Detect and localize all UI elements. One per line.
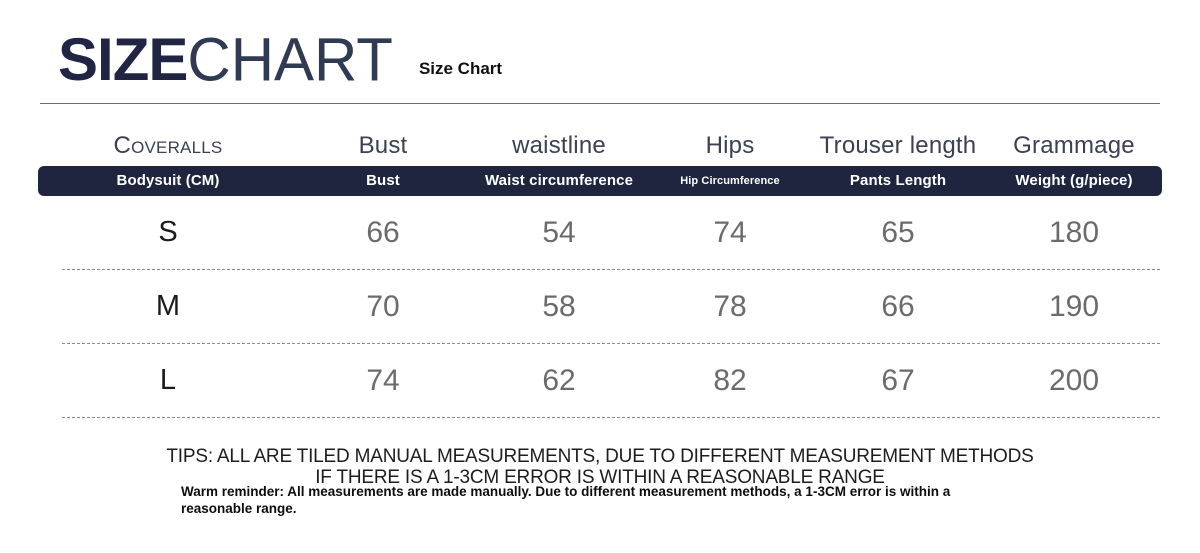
cell-size-m: M [38, 270, 298, 343]
cell-bust-l: 74 [298, 344, 468, 417]
title-light-word: CHART [187, 29, 393, 90]
page-title: SIZECHART Size Chart [58, 30, 502, 90]
cell-pants-length-m: 66 [810, 270, 986, 343]
table-row: L 74 62 82 67 200 [38, 344, 1162, 417]
cell-pants-length-s: 65 [810, 196, 986, 269]
table-row: S 66 54 74 65 180 [38, 196, 1162, 269]
title-bold-word: SIZE [58, 30, 187, 90]
size-table: Coveralls Bust waistline Hips Trouser le… [38, 128, 1162, 418]
header-navy-bust: Bust [298, 166, 468, 196]
header-light-waistline: waistline [468, 128, 650, 164]
footer-warm-reminder: Warm reminder: All measurements are made… [181, 483, 1021, 517]
title-divider [40, 103, 1160, 104]
cell-weight-m: 190 [986, 270, 1162, 343]
header-navy-weight: Weight (g/piece) [986, 166, 1162, 196]
cell-hip-s: 74 [650, 196, 810, 269]
cell-pants-length-l: 67 [810, 344, 986, 417]
cell-waist-m: 58 [468, 270, 650, 343]
cell-hip-l: 82 [650, 344, 810, 417]
table-row: M 70 58 78 66 190 [38, 270, 1162, 343]
size-chart-page: SIZECHART Size Chart Coveralls Bust wais… [0, 0, 1200, 553]
row-divider [62, 417, 1160, 418]
cell-weight-l: 200 [986, 344, 1162, 417]
header-navy-hip-circumference: Hip Circumference [650, 166, 810, 196]
header-navy-bodysuit: Bodysuit (CM) [38, 166, 298, 196]
cell-waist-l: 62 [468, 344, 650, 417]
footer-tip-line-1: TIPS: ALL ARE TILED MANUAL MEASUREMENTS,… [0, 446, 1200, 467]
table-header-row-light: Coveralls Bust waistline Hips Trouser le… [38, 128, 1162, 164]
header-navy-waist-circumference: Waist circumference [468, 166, 650, 196]
header-light-hips: Hips [650, 128, 810, 164]
header-light-coveralls: Coveralls [38, 128, 298, 164]
header-navy-pants-length: Pants Length [810, 166, 986, 196]
cell-size-s: S [38, 196, 298, 269]
cell-weight-s: 180 [986, 196, 1162, 269]
cell-waist-s: 54 [468, 196, 650, 269]
cell-bust-m: 70 [298, 270, 468, 343]
cell-size-l: L [38, 344, 298, 417]
cell-bust-s: 66 [298, 196, 468, 269]
header-light-grammage: Grammage [986, 128, 1162, 164]
header-light-trouser-length: Trouser length [810, 128, 986, 164]
title-subtitle: Size Chart [419, 59, 502, 79]
cell-hip-m: 78 [650, 270, 810, 343]
header-light-bust: Bust [298, 128, 468, 164]
footer-tips: TIPS: ALL ARE TILED MANUAL MEASUREMENTS,… [0, 446, 1200, 488]
table-header-row-navy: Bodysuit (CM) Bust Waist circumference H… [38, 166, 1162, 196]
